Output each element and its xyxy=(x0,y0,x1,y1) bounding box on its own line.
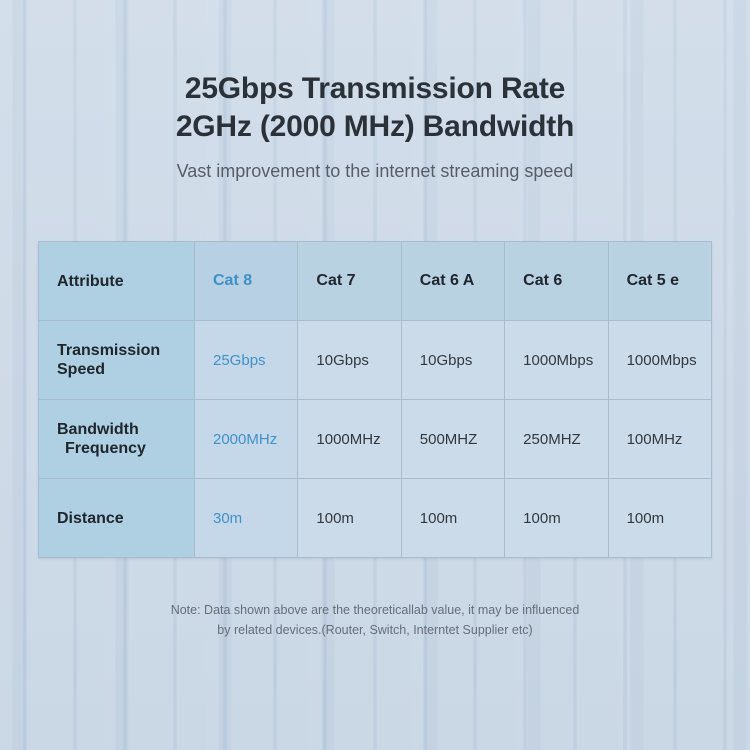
spec-comparison-table-wrapper: Attribute Cat 8 Cat 7 Cat 6 A Cat 6 Cat … xyxy=(38,241,712,558)
footnote-line-1: Note: Data shown above are the theoretic… xyxy=(0,600,750,620)
row-label-bandwidth-frequency: Bandwidth Frequency xyxy=(39,400,195,479)
table-header-row: Attribute Cat 8 Cat 7 Cat 6 A Cat 6 Cat … xyxy=(39,242,712,321)
cell-bandwidth-cat-6a: 500MHZ xyxy=(401,400,504,479)
cell-transmission-cat-5e: 1000Mbps xyxy=(608,321,711,400)
cell-bandwidth-cat-5e: 100MHz xyxy=(608,400,711,479)
footnote: Note: Data shown above are the theoretic… xyxy=(0,600,750,640)
row-label-line-1: Transmission xyxy=(57,341,194,360)
page-title-line-1: 25Gbps Transmission Rate xyxy=(0,70,750,108)
table-row: Distance 30m 100m 100m 100m 100m xyxy=(39,479,712,558)
cell-distance-cat-6a: 100m xyxy=(401,479,504,558)
column-header-cat-6: Cat 6 xyxy=(505,242,608,321)
cell-bandwidth-cat-8: 2000MHz xyxy=(195,400,298,479)
page-subtitle: Vast improvement to the internet streami… xyxy=(0,159,750,183)
cell-distance-cat-7: 100m xyxy=(298,479,401,558)
row-label-line-1: Bandwidth xyxy=(57,420,194,439)
cell-distance-cat-8: 30m xyxy=(195,479,298,558)
cell-bandwidth-cat-6: 250MHZ xyxy=(505,400,608,479)
column-header-cat-6a: Cat 6 A xyxy=(401,242,504,321)
footnote-line-2: by related devices.(Router, Switch, Inte… xyxy=(0,620,750,640)
page-title-line-2: 2GHz (2000 MHz) Bandwidth xyxy=(0,108,750,146)
cell-transmission-cat-6a: 10Gbps xyxy=(401,321,504,400)
row-label-line-2: Frequency xyxy=(57,439,194,458)
header-block: 25Gbps Transmission Rate 2GHz (2000 MHz)… xyxy=(0,70,750,183)
promo-page: 25Gbps Transmission Rate 2GHz (2000 MHz)… xyxy=(0,0,750,750)
column-header-cat-7: Cat 7 xyxy=(298,242,401,321)
column-header-attribute: Attribute xyxy=(39,242,195,321)
row-label-transmission-speed: Transmission Speed xyxy=(39,321,195,400)
column-header-cat-5e: Cat 5 e xyxy=(608,242,711,321)
cell-transmission-cat-6: 1000Mbps xyxy=(505,321,608,400)
table-row: Transmission Speed 25Gbps 10Gbps 10Gbps … xyxy=(39,321,712,400)
row-label-line-2: Speed xyxy=(57,360,194,379)
cell-distance-cat-5e: 100m xyxy=(608,479,711,558)
cell-distance-cat-6: 100m xyxy=(505,479,608,558)
cell-bandwidth-cat-7: 1000MHz xyxy=(298,400,401,479)
column-header-cat-8: Cat 8 xyxy=(195,242,298,321)
spec-comparison-table: Attribute Cat 8 Cat 7 Cat 6 A Cat 6 Cat … xyxy=(38,241,712,558)
table-row: Bandwidth Frequency 2000MHz 1000MHz 500M… xyxy=(39,400,712,479)
cell-transmission-cat-7: 10Gbps xyxy=(298,321,401,400)
row-label-distance: Distance xyxy=(39,479,195,558)
cell-transmission-cat-8: 25Gbps xyxy=(195,321,298,400)
